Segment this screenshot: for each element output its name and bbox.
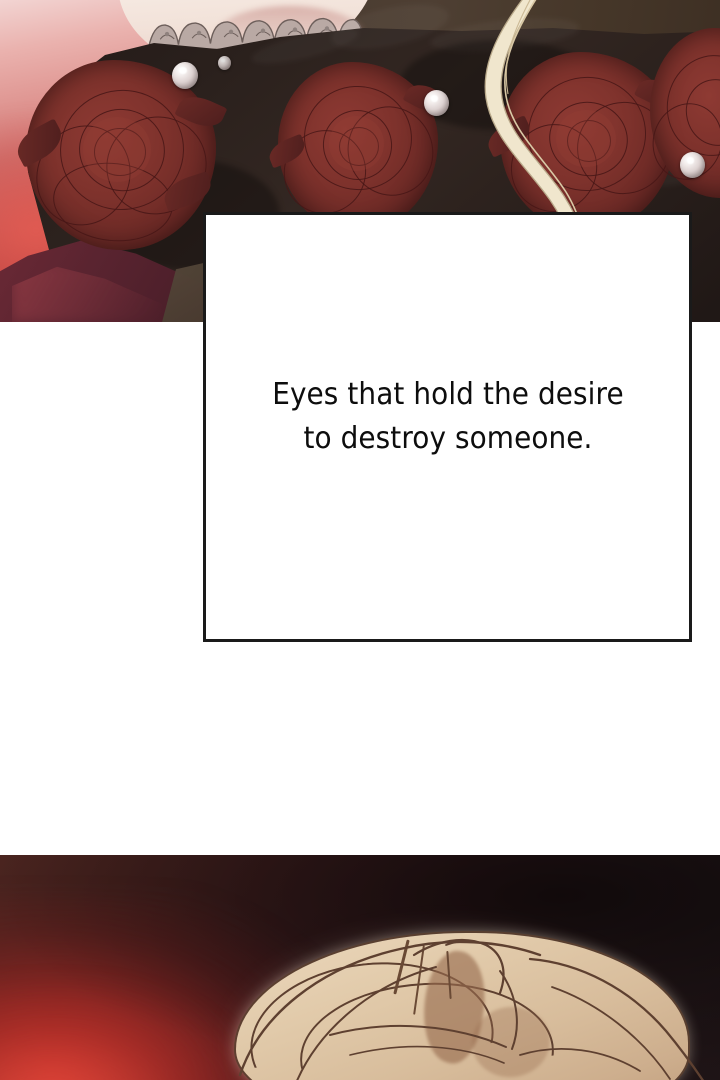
rose-petal-fill	[83, 117, 151, 182]
panel-bottom	[0, 855, 720, 1080]
pearl-bead	[172, 62, 198, 89]
pearl-bead	[424, 90, 449, 116]
rose-embroidery	[278, 62, 438, 232]
narration-text: Eyes that hold the desire to destroy som…	[272, 373, 623, 462]
narration-box: Eyes that hold the desire to destroy som…	[203, 212, 692, 642]
hair-lineart	[200, 915, 720, 1080]
pearl-bead	[218, 56, 231, 70]
comic-page: Eyes that hold the desire to destroy som…	[0, 0, 720, 1080]
rose-petal-fill	[329, 116, 383, 170]
pearl-bead	[680, 152, 705, 178]
